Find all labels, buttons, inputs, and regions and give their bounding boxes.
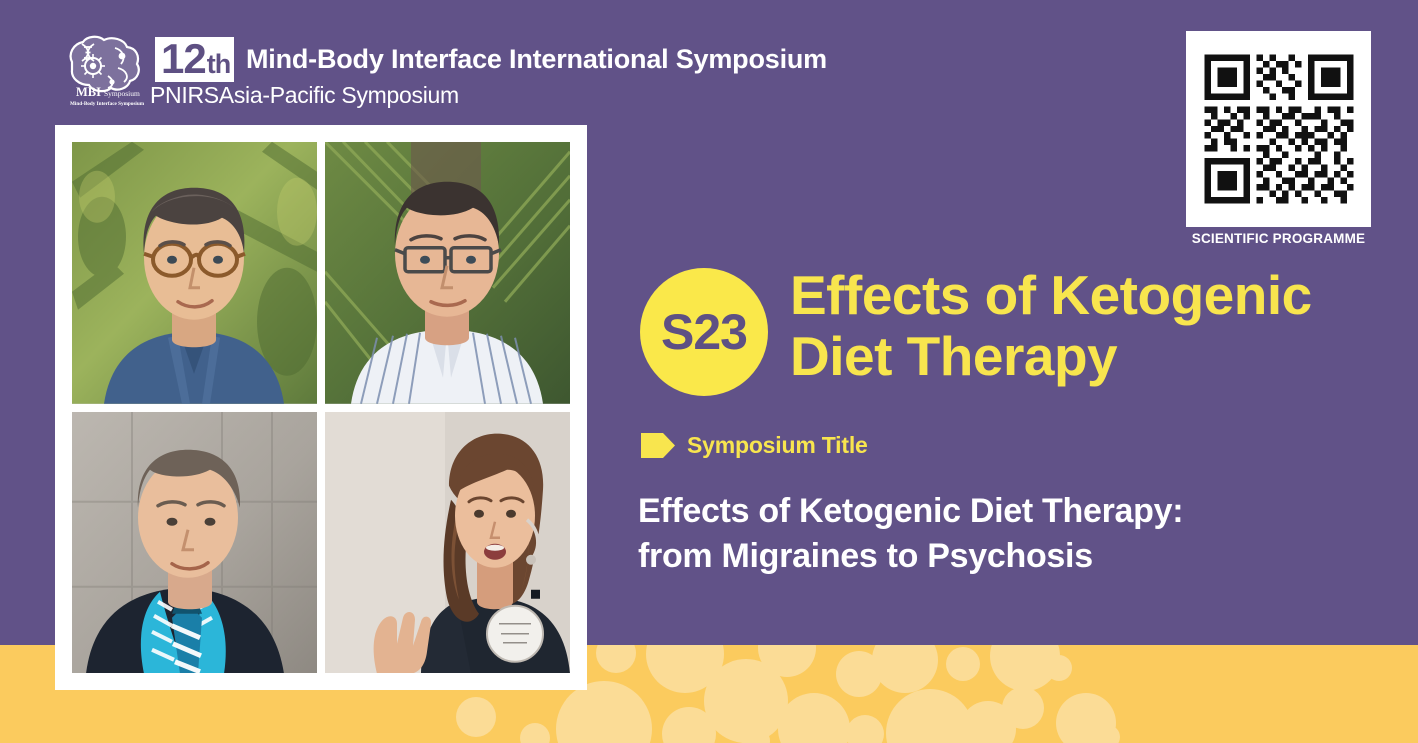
symposium-title-label: Symposium Title xyxy=(687,432,868,459)
session-banner: MBI Symposium Mind-Body Interface Sympos… xyxy=(0,0,1418,743)
svg-text:Symposium: Symposium xyxy=(104,89,140,98)
qr-code[interactable] xyxy=(1186,31,1371,227)
pennant-marker-icon xyxy=(641,433,675,458)
symposium-full-title: Effects of Ketogenic Diet Therapy: from … xyxy=(638,489,1338,579)
speaker-photo-top-right xyxy=(325,142,570,404)
symposium-title-label-row: Symposium Title xyxy=(641,432,868,459)
svg-text:MBI: MBI xyxy=(76,85,101,99)
mbi-symposium-logo: MBI Symposium Mind-Body Interface Sympos… xyxy=(60,32,146,110)
banner-header: MBI Symposium Mind-Body Interface Sympos… xyxy=(0,0,1418,120)
symposium-title-line-2: from Migraines to Psychosis xyxy=(638,534,1338,579)
edition-number: 12 xyxy=(161,39,206,79)
speaker-photo-top-left xyxy=(72,142,317,404)
speaker-photo-collage xyxy=(55,125,587,690)
session-code-badge: S23 xyxy=(640,268,768,396)
qr-caption: SCIENTIFIC PROGRAMME xyxy=(1186,231,1371,246)
session-heading: Effects of Ketogenic Diet Therapy xyxy=(790,265,1390,387)
symposium-name: Mind-Body Interface International Sympos… xyxy=(246,44,827,75)
edition-badge: 12th xyxy=(155,37,234,82)
svg-text:Mind-Body Interface Symposium: Mind-Body Interface Symposium xyxy=(70,101,145,107)
symposium-title-line-1: Effects of Ketogenic Diet Therapy: xyxy=(638,489,1338,534)
speaker-photo-bottom-left xyxy=(72,412,317,674)
symposium-subtitle: PNIRSAsia-Pacific Symposium xyxy=(150,82,459,109)
edition-ordinal: th xyxy=(207,44,230,84)
speaker-photo-bottom-right xyxy=(325,412,570,674)
